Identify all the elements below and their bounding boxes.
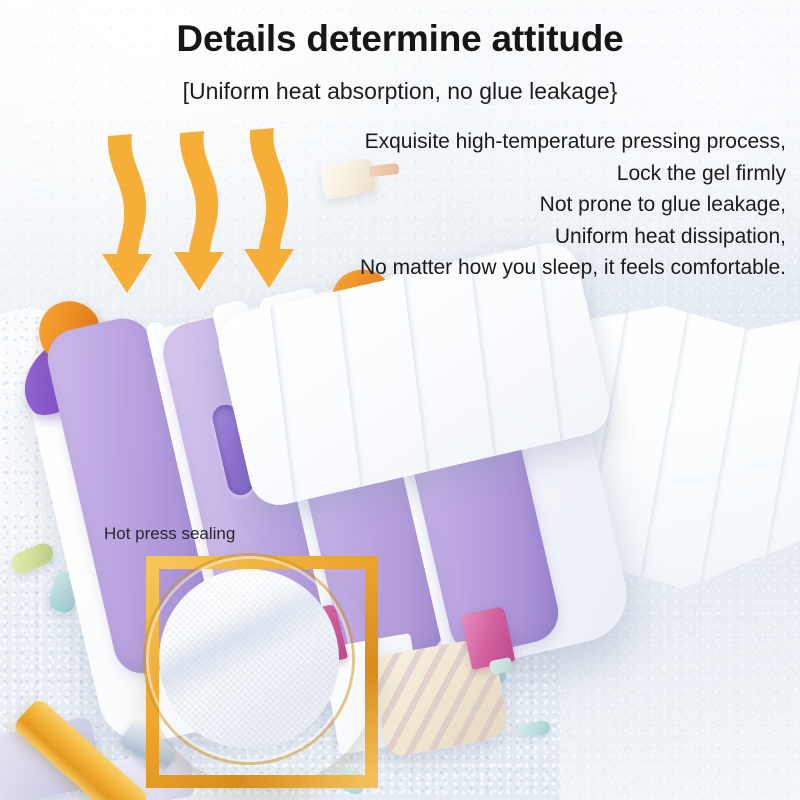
product-marketing-image: Details determine attitude [Uniform heat…	[0, 0, 800, 800]
feature-line: Uniform heat dissipation,	[166, 221, 786, 253]
feature-line: Exquisite high-temperature pressing proc…	[166, 126, 786, 158]
page-subtitle: [Uniform heat absorption, no glue leakag…	[0, 78, 800, 105]
feature-line: Lock the gel firmly	[166, 158, 786, 190]
magnifier-icon	[112, 556, 362, 800]
feature-line: Not prone to glue leakage,	[166, 189, 786, 221]
magnifier-rim-highlight	[146, 556, 352, 762]
hot-press-sealing-label: Hot press sealing	[104, 524, 235, 544]
feature-line: No matter how you sleep, it feels comfor…	[166, 252, 786, 284]
page-title: Details determine attitude	[0, 18, 800, 60]
feature-text-block: Exquisite high-temperature pressing proc…	[166, 126, 786, 284]
